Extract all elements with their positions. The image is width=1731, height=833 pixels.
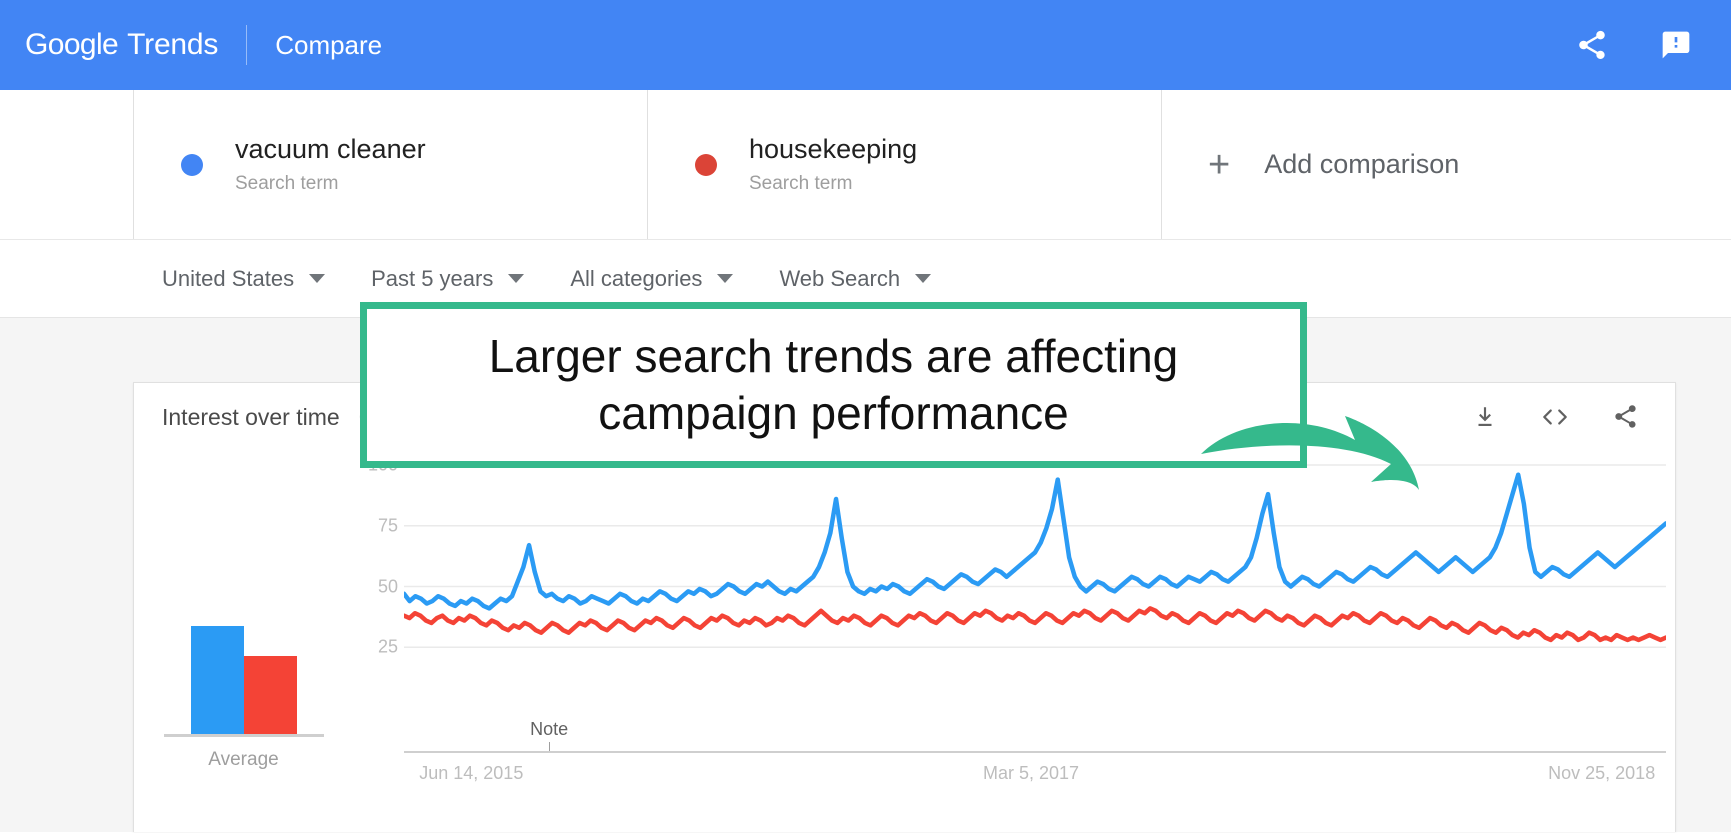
- series-color-dot-red: [695, 154, 717, 176]
- average-label: Average: [146, 749, 341, 771]
- search-term-2-text: housekeeping Search term: [749, 134, 917, 194]
- search-term-card-1[interactable]: vacuum cleaner Search term: [133, 90, 647, 239]
- search-term-1-subtitle: Search term: [235, 173, 426, 195]
- filter-time-range[interactable]: Past 5 years: [371, 266, 524, 292]
- search-terms-row: vacuum cleaner Search term housekeeping …: [0, 90, 1731, 240]
- series-lines: [404, 451, 1666, 771]
- average-bar-2: [244, 656, 297, 734]
- average-bar-1: [191, 626, 244, 734]
- series-line-2: [404, 608, 1666, 640]
- filter-time-range-label: Past 5 years: [371, 266, 493, 292]
- filter-category[interactable]: All categories: [570, 266, 733, 292]
- y-axis-labels: 255075100: [346, 451, 404, 771]
- search-term-2-subtitle: Search term: [749, 173, 917, 195]
- top-app-bar: Google Trends Compare: [0, 0, 1731, 90]
- brand-logo[interactable]: Google Trends: [25, 28, 218, 62]
- add-comparison-label: Add comparison: [1264, 149, 1459, 180]
- top-bar-actions: [1575, 28, 1693, 62]
- series-line-1: [404, 475, 1666, 609]
- chevron-down-icon: [508, 274, 524, 283]
- search-term-1-title: vacuum cleaner: [235, 134, 426, 165]
- x-tick-label-3: Nov 25, 2018: [1548, 763, 1655, 784]
- filter-category-label: All categories: [570, 266, 702, 292]
- compare-title: Compare: [275, 30, 382, 61]
- annotation-callout-box: Larger search trends are affecting campa…: [360, 302, 1307, 468]
- x-axis-line: [404, 751, 1666, 753]
- time-series-graph[interactable]: 255075100 Note Jun 14, 2015Mar 5, 2017No…: [346, 451, 1666, 833]
- average-bars: [146, 579, 341, 734]
- x-tick-label-1: Jun 14, 2015: [419, 763, 523, 784]
- search-term-2-title: housekeeping: [749, 134, 917, 165]
- annotation-line-1: Larger search trends are affecting: [489, 330, 1179, 382]
- y-tick-50: 50: [378, 576, 398, 597]
- brand-google-text: Google: [25, 28, 118, 62]
- chevron-down-icon: [915, 274, 931, 283]
- plot-area: Average 255075100 Note Jun 14, 2015Mar 5…: [134, 451, 1677, 833]
- annotation-line-2: campaign performance: [598, 387, 1068, 439]
- average-baseline: [164, 734, 324, 737]
- x-tick-label-2: Mar 5, 2017: [983, 763, 1079, 784]
- search-term-card-2[interactable]: housekeeping Search term: [647, 90, 1161, 239]
- filter-search-type-label: Web Search: [779, 266, 900, 292]
- average-panel: Average: [146, 579, 341, 771]
- chevron-down-icon: [309, 274, 325, 283]
- y-tick-75: 75: [378, 515, 398, 536]
- filter-location-label: United States: [162, 266, 294, 292]
- terms-left-spacer: [0, 90, 133, 239]
- download-icon[interactable]: [1472, 404, 1498, 430]
- google-trends-page: Google Trends Compare vacuum cleaner: [0, 0, 1731, 832]
- chart-tools: [1472, 403, 1639, 430]
- add-comparison-button[interactable]: + Add comparison: [1161, 90, 1731, 239]
- share-icon[interactable]: [1612, 403, 1639, 430]
- brand-trends-text: Trends: [127, 28, 218, 62]
- filter-location[interactable]: United States: [162, 266, 325, 292]
- series-color-dot-blue: [181, 154, 203, 176]
- page-title: Interest over time: [162, 404, 340, 431]
- search-term-1-text: vacuum cleaner Search term: [235, 134, 426, 194]
- feedback-icon[interactable]: [1659, 28, 1693, 62]
- annotation-text: Larger search trends are affecting campa…: [473, 328, 1195, 443]
- y-tick-25: 25: [378, 637, 398, 658]
- share-icon[interactable]: [1575, 28, 1609, 62]
- chevron-down-icon: [717, 274, 733, 283]
- plus-icon: +: [1208, 146, 1230, 184]
- embed-code-icon[interactable]: [1540, 404, 1570, 430]
- header-divider: [246, 25, 247, 65]
- filter-search-type[interactable]: Web Search: [779, 266, 931, 292]
